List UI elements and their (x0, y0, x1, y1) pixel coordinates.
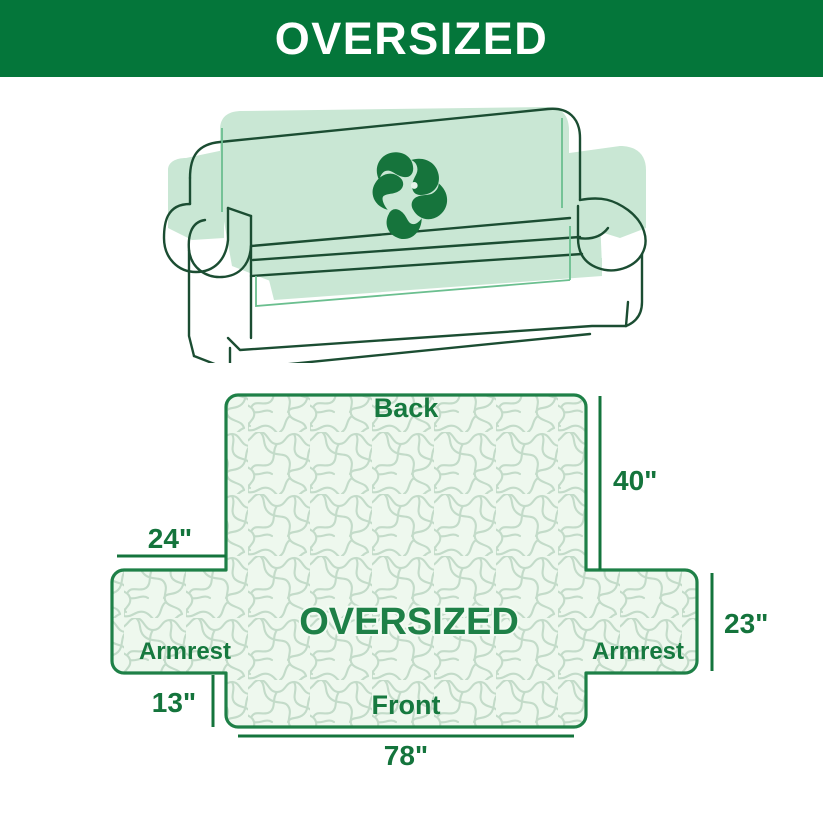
dimension-label-armrest-height: 23" (724, 608, 768, 639)
cover-panel-shape (112, 395, 697, 727)
panel-label-armrest-left: Armrest (139, 638, 231, 665)
page-title: OVERSIZED (275, 16, 549, 61)
dimension-label-armrest-depth: 24" (148, 523, 192, 554)
dimension-label-front-height: 13" (152, 687, 196, 718)
dimension-label-total-width: 78" (384, 740, 428, 770)
header-banner: OVERSIZED (0, 0, 823, 77)
page-root: OVERSIZED (0, 0, 823, 823)
panel-label-front: Front (372, 690, 441, 720)
panel-label-back: Back (374, 393, 440, 423)
panel-label-armrest-right: Armrest (592, 638, 684, 665)
sofa-illustration (150, 88, 680, 363)
center-size-label: OVERSIZED (299, 601, 519, 643)
dimension-label-back-height: 40" (613, 465, 657, 496)
flat-layout-diagram: Back Front Armrest Armrest OVERSIZED 40"… (0, 370, 823, 770)
